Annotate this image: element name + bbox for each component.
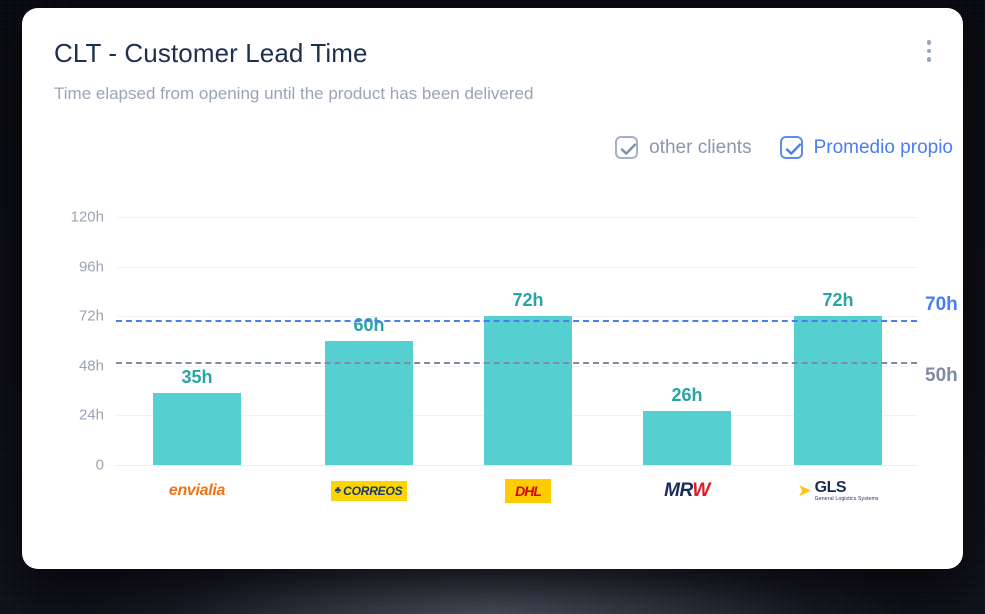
reference-line [116, 362, 917, 364]
legend-label-promedio-propio: Promedio propio [814, 137, 953, 159]
gridline [116, 415, 917, 416]
checkbox-promedio-propio[interactable] [780, 136, 803, 159]
gridline [116, 316, 917, 317]
chart-card: CLT - Customer Lead Time Time elapsed fr… [22, 8, 963, 569]
bar-value-label: 35h [153, 367, 241, 388]
bar-value-label: 72h [794, 290, 882, 311]
y-axis-tick-label: 24h [44, 407, 104, 424]
bar[interactable] [794, 316, 882, 465]
logo-mrw-text: MRW [664, 480, 710, 502]
legend-item-promedio-propio[interactable]: Promedio propio [780, 136, 953, 159]
y-axis-tick-label: 96h [44, 258, 104, 275]
logo-mrw-w: W [692, 480, 709, 501]
chart-legend: other clients Promedio propio [615, 136, 953, 159]
bar[interactable] [325, 341, 413, 465]
bar-value-label: 26h [643, 385, 731, 406]
logo-dhl-badge: DHL [505, 479, 551, 503]
checkbox-other-clients[interactable] [615, 136, 638, 159]
x-axis-logo-mrw[interactable]: MRW [643, 478, 731, 504]
bar-value-label: 72h [484, 290, 572, 311]
logo-envialia-text: envialia [169, 482, 225, 500]
check-icon [620, 142, 637, 157]
logo-gls-tagline: General Logistics Systems [815, 497, 879, 502]
kebab-dot [927, 57, 932, 62]
y-axis-tick-label: 72h [44, 308, 104, 325]
reference-line-label: 50h [925, 365, 958, 387]
kebab-dot [927, 40, 932, 45]
card-subtitle: Time elapsed from opening until the prod… [54, 84, 533, 104]
crown-icon: ♣ [335, 486, 342, 496]
y-axis-tick-label: 120h [44, 209, 104, 226]
reference-line [116, 320, 917, 322]
logo-gls-badge: ➤GLSGeneral Logistics Systems [797, 480, 878, 502]
y-axis-tick-label: 0 [44, 457, 104, 474]
kebab-menu-icon[interactable] [917, 34, 941, 68]
kebab-dot [927, 49, 932, 54]
logo-gls-text: GLSGeneral Logistics Systems [815, 480, 879, 502]
bar[interactable] [153, 393, 241, 465]
gridline [116, 217, 917, 218]
logo-correos-badge: ♣CORREOS [331, 481, 408, 501]
x-axis-logo-envialia[interactable]: envialia [153, 478, 241, 504]
logo-correos-text: CORREOS [343, 484, 402, 498]
arrow-icon: ➤ [797, 482, 811, 499]
x-axis-logo-dhl[interactable]: DHL [484, 478, 572, 504]
gridline [116, 267, 917, 268]
page-title: CLT - Customer Lead Time [54, 38, 368, 69]
x-axis-baseline [116, 465, 917, 466]
legend-label-other-clients: other clients [649, 137, 751, 159]
gridline [116, 366, 917, 367]
x-axis-logo-correos[interactable]: ♣CORREOS [325, 478, 413, 504]
logo-gls-name: GLS [815, 479, 846, 496]
y-axis-tick-label: 48h [44, 357, 104, 374]
bar[interactable] [643, 411, 731, 465]
reference-line-label: 70h [925, 294, 958, 316]
check-icon [785, 142, 802, 157]
gridline [116, 465, 917, 466]
bar-value-label: 60h [325, 315, 413, 336]
legend-item-other-clients[interactable]: other clients [615, 136, 751, 159]
x-axis-logo-gls[interactable]: ➤GLSGeneral Logistics Systems [794, 478, 882, 504]
bar[interactable] [484, 316, 572, 465]
